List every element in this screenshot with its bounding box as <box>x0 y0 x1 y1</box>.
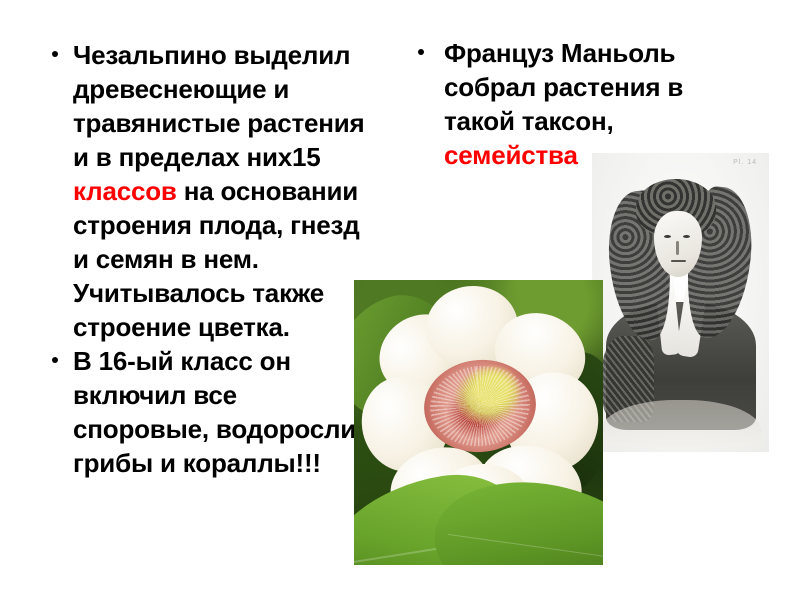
bullet-item-cesalpino: Чезальпино выделил древеснеющие и травян… <box>40 38 370 344</box>
bullet-text-magnol: Француз Маньоль собрал растения в такой … <box>444 36 764 172</box>
portrait-eye-left <box>664 235 671 238</box>
right-text-column: Француз Маньоль собрал растения в такой … <box>404 36 764 172</box>
text-line: грибы и кораллы!!! <box>73 446 370 480</box>
text-line: включил все <box>73 378 370 412</box>
leaf-vein <box>448 533 603 561</box>
text-line: Чезальпино выделил <box>73 38 370 72</box>
bullet-dot-icon <box>418 49 424 55</box>
bullet-text-cesalpino: Чезальпино выделил древеснеющие и травян… <box>73 38 370 344</box>
text-line: и семян в нем. <box>73 242 370 276</box>
text-line-suffix: на основании <box>177 176 358 206</box>
magnol-portrait-image: Pl. 14 <box>592 153 769 452</box>
portrait-plate-mark: Pl. 14 <box>733 159 757 166</box>
slide-canvas: Чезальпино выделил древеснеющие и травян… <box>0 0 800 600</box>
magnolia-flower-image <box>354 280 603 565</box>
text-line: строение цветка. <box>73 310 370 344</box>
portrait-nose <box>676 241 679 255</box>
bullet-item-magnol: Француз Маньоль собрал растения в такой … <box>404 36 764 172</box>
text-line: Француз Маньоль <box>444 36 764 70</box>
text-line: Учитывалось также <box>73 276 370 310</box>
portrait-eye-right <box>683 235 690 238</box>
bullet-item-sixteenth-class: В 16-ый класс он включил все споровые, в… <box>40 344 370 480</box>
portrait-mouth <box>671 260 686 262</box>
bullet-dot-icon <box>52 357 58 363</box>
bullet-text-sixteenth-class: В 16-ый класс он включил все споровые, в… <box>73 344 370 480</box>
text-line: и в пределах них15 <box>73 140 370 174</box>
text-line: споровые, водоросли, <box>73 412 370 446</box>
text-line: такой таксон, <box>444 104 764 138</box>
text-line: собрал растения в <box>444 70 764 104</box>
highlight-klassov: классов <box>73 176 177 206</box>
text-line: древеснеющие и <box>73 72 370 106</box>
text-line: В 16-ый класс он <box>73 344 370 378</box>
text-line-highlighted: классов на основании <box>73 174 370 208</box>
text-line: строения плода, гнезд <box>73 208 370 242</box>
bullet-dot-icon <box>52 51 58 57</box>
text-line: травянистые растения <box>73 106 370 140</box>
left-text-column: Чезальпино выделил древеснеющие и травян… <box>40 38 370 480</box>
